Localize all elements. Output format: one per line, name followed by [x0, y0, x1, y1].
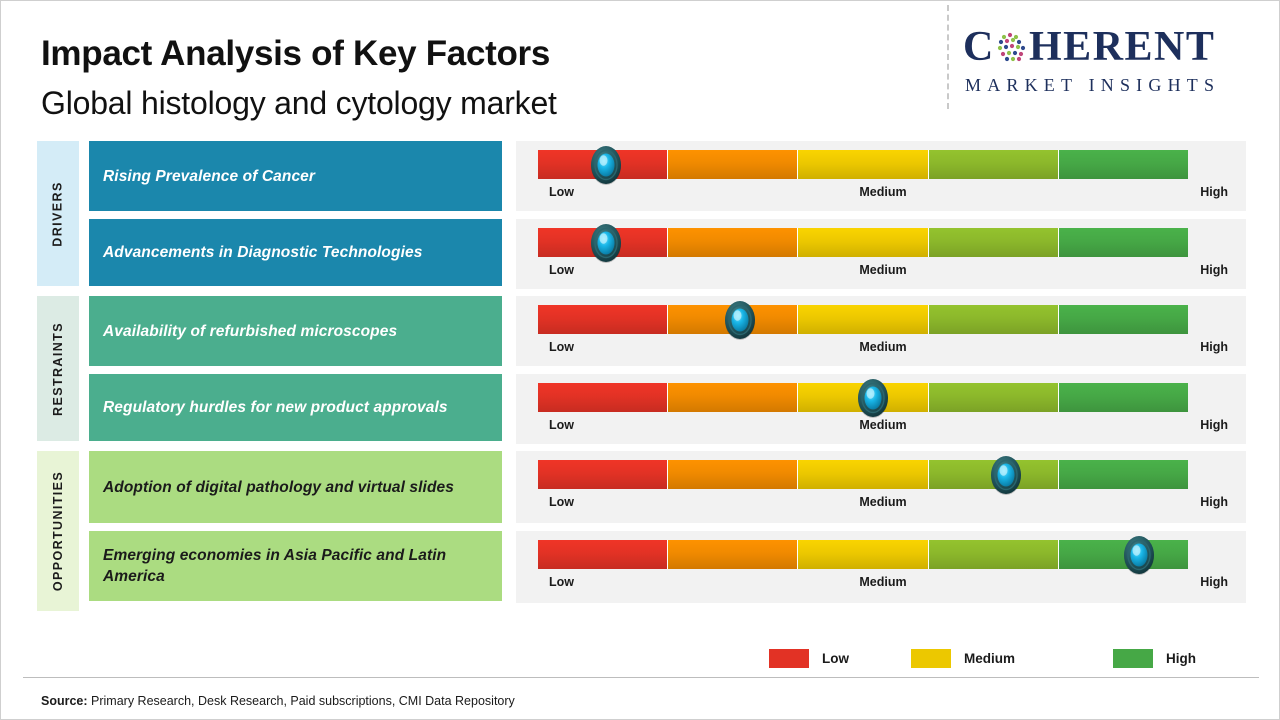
slide-canvas: Impact Analysis of Key Factors Global hi…: [0, 0, 1280, 720]
legend-label-low: Low: [822, 651, 849, 666]
page-subtitle: Global histology and cytology market: [41, 85, 557, 122]
impact-segment-2: [798, 150, 928, 179]
impact-segment-4: [1059, 150, 1188, 179]
scale-tick-high: High: [1200, 340, 1228, 354]
scale-tick-medium: Medium: [859, 575, 906, 589]
scale-tick-medium: Medium: [859, 340, 906, 354]
impact-scale-row: LowMediumHigh: [516, 296, 1246, 366]
impact-segment-2: [798, 305, 928, 334]
impact-segment-2: [798, 383, 928, 412]
impact-matrix: DRIVERS RESTRAINTS OPPORTUNITIES Rising …: [1, 141, 1280, 611]
globe-icon: [994, 29, 1030, 65]
category-label-drivers: DRIVERS: [51, 181, 65, 246]
impact-segment-1: [668, 460, 798, 489]
scale-tick-low: Low: [549, 575, 574, 589]
category-strip-restraints: RESTRAINTS: [37, 296, 79, 441]
legend-item-medium: Medium: [911, 646, 1015, 670]
scale-tick-high: High: [1200, 575, 1228, 589]
impact-segment-4: [1059, 228, 1188, 257]
scale-tick-labels: LowMediumHigh: [538, 340, 1228, 358]
factor-box[interactable]: Regulatory hurdles for new product appro…: [89, 374, 502, 441]
impact-segment-4: [1059, 383, 1188, 412]
scale-tick-low: Low: [549, 418, 574, 432]
impact-segment-2: [798, 228, 928, 257]
scale-tick-medium: Medium: [859, 418, 906, 432]
impact-segment-0: [538, 150, 668, 179]
logo-wordmark-c: C: [963, 24, 995, 70]
impact-segment-0: [538, 305, 668, 334]
impact-segment-3: [929, 460, 1059, 489]
impact-segment-0: [538, 228, 668, 257]
legend-item-low: Low: [769, 646, 849, 670]
scale-tick-medium: Medium: [859, 495, 906, 509]
impact-gradient-bar: [538, 540, 1188, 569]
impact-segment-3: [929, 383, 1059, 412]
scale-tick-low: Low: [549, 495, 574, 509]
scale-tick-high: High: [1200, 263, 1228, 277]
impact-gradient-bar: [538, 305, 1188, 334]
impact-segment-1: [668, 383, 798, 412]
page-title: Impact Analysis of Key Factors: [41, 34, 550, 74]
logo-tagline: MARKET INSIGHTS: [965, 75, 1220, 96]
legend-label-high: High: [1166, 651, 1196, 666]
impact-segment-3: [929, 305, 1059, 334]
scale-tick-labels: LowMediumHigh: [538, 418, 1228, 436]
factor-box[interactable]: Advancements in Diagnostic Technologies: [89, 219, 502, 286]
impact-gradient-bar: [538, 460, 1188, 489]
impact-segment-1: [668, 540, 798, 569]
factor-box[interactable]: Availability of refurbished microscopes: [89, 296, 502, 366]
impact-segment-3: [929, 150, 1059, 179]
impact-gradient-bar: [538, 228, 1188, 257]
factor-label: Adoption of digital pathology and virtua…: [103, 477, 454, 498]
scale-tick-medium: Medium: [859, 263, 906, 277]
factor-label: Availability of refurbished microscopes: [103, 321, 397, 342]
legend-swatch-medium: [911, 649, 951, 668]
source-note: Source: Primary Research, Desk Research,…: [41, 694, 515, 708]
impact-scale-row: LowMediumHigh: [516, 531, 1246, 603]
impact-segment-1: [668, 228, 798, 257]
impact-segment-0: [538, 460, 668, 489]
scale-tick-medium: Medium: [859, 185, 906, 199]
category-label-opportunities: OPPORTUNITIES: [51, 471, 65, 591]
impact-gradient-bar: [538, 383, 1188, 412]
category-label-restraints: RESTRAINTS: [51, 322, 65, 416]
legend-item-high: High: [1113, 646, 1196, 670]
scale-tick-labels: LowMediumHigh: [538, 495, 1228, 513]
impact-segment-3: [929, 228, 1059, 257]
category-strip-opportunities: OPPORTUNITIES: [37, 451, 79, 611]
impact-segment-2: [798, 460, 928, 489]
impact-scale-row: LowMediumHigh: [516, 141, 1246, 211]
scale-tick-low: Low: [549, 185, 574, 199]
impact-segment-0: [538, 540, 668, 569]
scale-tick-labels: LowMediumHigh: [538, 575, 1228, 593]
factor-box[interactable]: Rising Prevalence of Cancer: [89, 141, 502, 211]
legend-swatch-high: [1113, 649, 1153, 668]
impact-segment-4: [1059, 460, 1188, 489]
company-logo: COHERENT: [963, 23, 1263, 105]
scale-tick-low: Low: [549, 340, 574, 354]
impact-segment-3: [929, 540, 1059, 569]
impact-scale-row: LowMediumHigh: [516, 374, 1246, 444]
scale-tick-labels: LowMediumHigh: [538, 185, 1228, 203]
impact-segment-1: [668, 150, 798, 179]
logo-divider: [947, 5, 949, 109]
factor-label: Regulatory hurdles for new product appro…: [103, 397, 448, 418]
scale-tick-labels: LowMediumHigh: [538, 263, 1228, 281]
impact-segment-4: [1059, 540, 1188, 569]
impact-scale-row: LowMediumHigh: [516, 219, 1246, 289]
logo-wordmark-rest: HERENT: [1029, 24, 1215, 70]
legend-label-medium: Medium: [964, 651, 1015, 666]
footer-divider: [23, 677, 1259, 678]
factor-label: Emerging economies in Asia Pacific and L…: [103, 545, 488, 587]
scale-tick-high: High: [1200, 185, 1228, 199]
scale-tick-high: High: [1200, 495, 1228, 509]
scale-tick-low: Low: [549, 263, 574, 277]
legend: Low Medium High: [761, 646, 1221, 670]
category-strip-drivers: DRIVERS: [37, 141, 79, 286]
impact-segment-1: [668, 305, 798, 334]
scale-tick-high: High: [1200, 418, 1228, 432]
factor-label: Rising Prevalence of Cancer: [103, 166, 315, 187]
impact-segment-0: [538, 383, 668, 412]
impact-segment-2: [798, 540, 928, 569]
impact-scale-row: LowMediumHigh: [516, 451, 1246, 523]
impact-gradient-bar: [538, 150, 1188, 179]
factor-box[interactable]: Adoption of digital pathology and virtua…: [89, 451, 502, 523]
factor-box[interactable]: Emerging economies in Asia Pacific and L…: [89, 531, 502, 601]
source-text: Primary Research, Desk Research, Paid su…: [88, 694, 515, 708]
legend-swatch-low: [769, 649, 809, 668]
impact-segment-4: [1059, 305, 1188, 334]
header: Impact Analysis of Key Factors Global hi…: [1, 1, 1280, 133]
factor-label: Advancements in Diagnostic Technologies: [103, 242, 422, 263]
source-label: Source:: [41, 694, 88, 708]
